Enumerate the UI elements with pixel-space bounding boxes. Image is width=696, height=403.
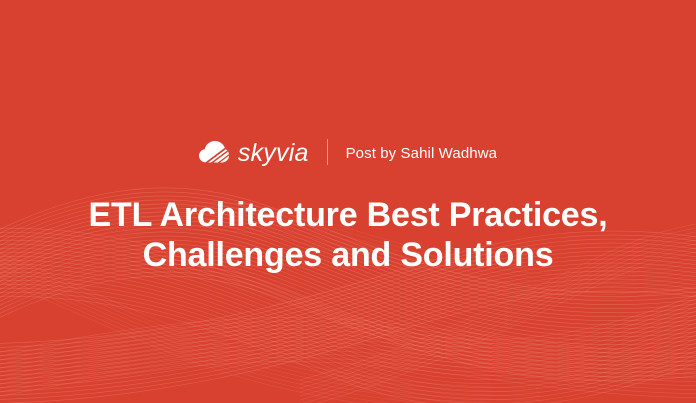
skyvia-wordmark: skyvia [238,141,309,166]
page-title: ETL Architecture Best Practices, Challen… [40,195,656,275]
page-title-line-2: Challenges and Solutions [40,235,656,275]
skyvia-cloud-icon [199,141,229,163]
article-hero-banner: skyvia Post by Sahil Wadhwa ETL Architec… [0,0,696,403]
skyvia-logo[interactable]: skyvia [199,140,309,165]
page-title-line-1: ETL Architecture Best Practices, [40,195,656,235]
byline-divider [327,139,328,165]
author-byline: Post by Sahil Wadhwa [346,146,498,161]
brand-byline-row: skyvia Post by Sahil Wadhwa [0,134,696,170]
